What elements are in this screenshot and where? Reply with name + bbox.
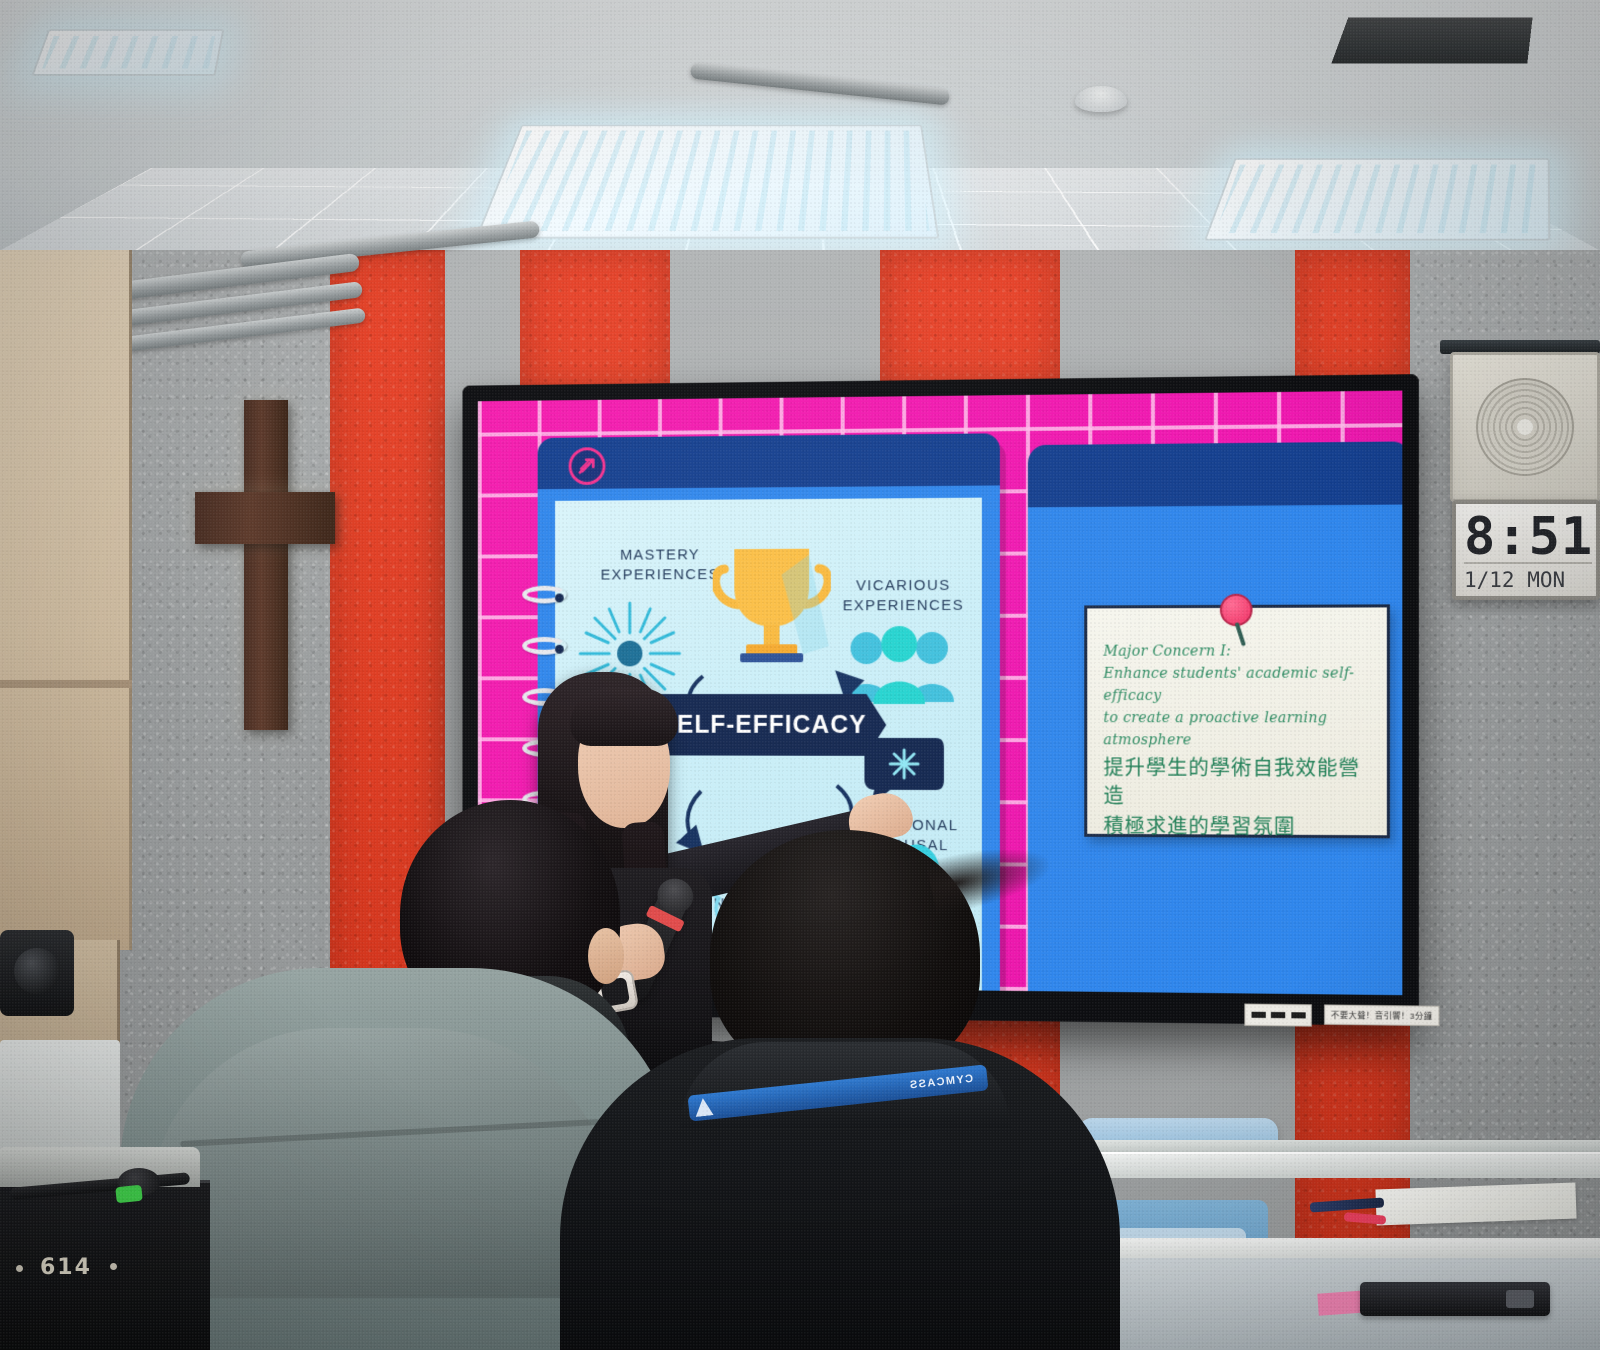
cross-horizontal-beam xyxy=(195,492,335,544)
ceiling-light-panel xyxy=(475,125,939,239)
audience-hair-tuft xyxy=(925,836,1054,916)
blue-pen[interactable] xyxy=(1310,1197,1385,1212)
green-clip xyxy=(115,1185,143,1204)
clock-date: 1/12 MON xyxy=(1464,562,1592,592)
desk-items-front xyxy=(1300,1272,1600,1342)
sticky-line-zh-2: 積極求進的學習氛圍 xyxy=(1103,812,1372,842)
digital-wall-clock: 8:51 1/12 MON xyxy=(1452,500,1600,600)
binding-ring xyxy=(522,586,566,604)
camera-device xyxy=(0,930,74,1016)
black-device[interactable] xyxy=(1360,1282,1550,1316)
sticky-line-en-1: Major Concern I: xyxy=(1103,640,1372,663)
paper-sheet[interactable] xyxy=(1375,1183,1576,1226)
wall-exhaust-fan xyxy=(1450,352,1600,502)
audience-member-dark-shirt: CYMCASS xyxy=(560,830,1120,1350)
classroom-scene: 8:51 1/12 MON MASTERY EXPERIENCES V xyxy=(0,0,1600,1350)
equipment-screw xyxy=(16,1265,23,1272)
clock-time: 8:51 xyxy=(1464,508,1592,568)
av-equipment-rack: 614 xyxy=(0,1180,210,1350)
smoke-detector-icon xyxy=(1075,86,1127,112)
sticky-note: Major Concern I: Enhance students' acade… xyxy=(1084,604,1390,838)
display-notice-label: 不要大聲！音引響！3分鐘 xyxy=(1324,1004,1439,1026)
lanyard-logo-icon xyxy=(694,1097,714,1117)
binding-ring xyxy=(522,637,566,655)
upward-arrow-circle-logo-icon xyxy=(569,447,606,485)
fan-hub xyxy=(1517,419,1533,435)
presenter-fringe xyxy=(570,688,678,746)
sticky-line-en-2: Enhance students' academic self-efficacy xyxy=(1103,662,1372,707)
display-port-label xyxy=(1244,1004,1311,1027)
push-pin-icon xyxy=(1220,594,1253,626)
sticky-line-en-3: to create a proactive learning atmospher… xyxy=(1103,707,1372,752)
ceiling-light-panel xyxy=(1204,158,1550,240)
lanyard-text: CYMCASS xyxy=(908,1073,974,1092)
cross-vertical-beam xyxy=(244,400,288,730)
equipment-screw xyxy=(110,1263,117,1270)
ceiling-light-panel xyxy=(31,29,224,76)
equipment-number-label: 614 xyxy=(40,1255,92,1280)
sticky-line-zh-1: 提升學生的學術自我效能營造 xyxy=(1103,753,1372,810)
desk-items-rear xyxy=(1280,1180,1600,1240)
left-wall-cabinet xyxy=(0,250,132,950)
ceiling-vent xyxy=(1331,18,1532,64)
wooden-cross-icon xyxy=(195,400,335,730)
